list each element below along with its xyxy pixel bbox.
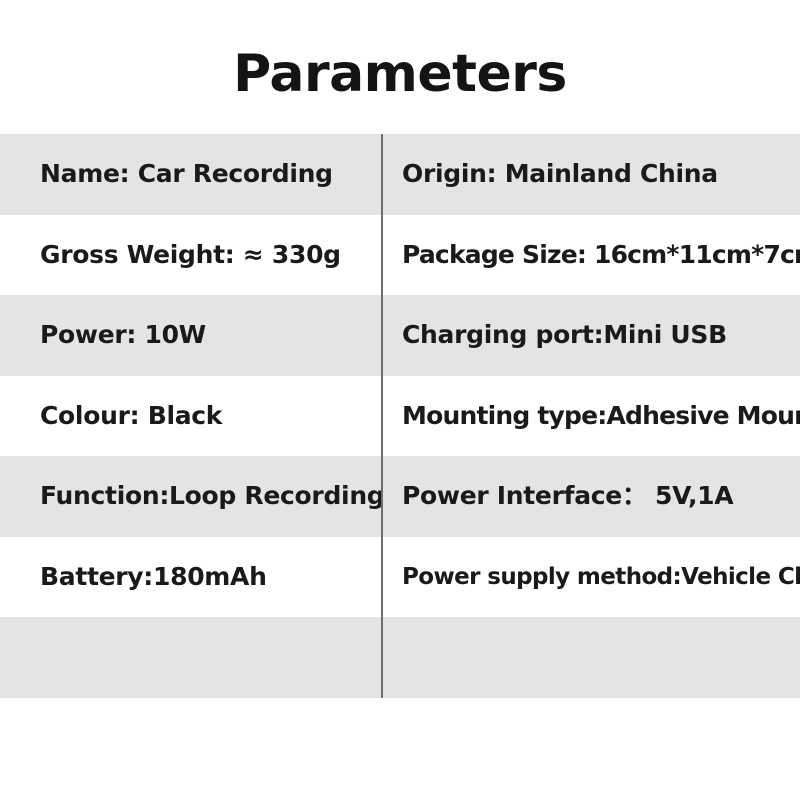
table-cell-right: Origin: Mainland China [381,134,800,215]
bottom-whitespace [0,698,800,800]
parameter-text: Origin: Mainland China [402,158,718,190]
parameter-text: Power Interface： 5V,1A [402,480,733,512]
table-cell-left: Name: Car Recording [0,134,381,215]
parameters-spec-sheet: Parameters Name: Car Recording Origin: M… [0,0,800,800]
parameters-table: Name: Car Recording Origin: Mainland Chi… [0,134,800,698]
table-cell-right: Power supply method:Vehicle Charger [381,537,800,618]
parameter-text: Name: Car Recording [40,158,333,190]
table-cell-right: Package Size: 16cm*11cm*7cm [381,215,800,296]
parameter-text: Function:Loop Recording [40,480,381,512]
table-row: Power: 10W Charging port:Mini USB [0,295,800,376]
table-cell-right [381,617,800,698]
table-cell-left: Function:Loop Recording [0,456,381,537]
parameter-text: Package Size: 16cm*11cm*7cm [402,239,800,271]
table-row: Colour: Black Mounting type:Adhesive Mou… [0,376,800,457]
parameter-text: Charging port:Mini USB [402,319,727,351]
table-cell-left [0,617,381,698]
page-title: Parameters [0,46,800,102]
table-cell-left: Colour: Black [0,376,381,457]
parameter-text: Colour: Black [40,400,222,432]
table-cell-right: Power Interface： 5V,1A [381,456,800,537]
parameter-text: Gross Weight: ≈ 330g [40,239,341,271]
table-cell-right: Mounting type:Adhesive Mount [381,376,800,457]
parameter-text: Power: 10W [40,319,206,351]
table-row: Name: Car Recording Origin: Mainland Chi… [0,134,800,215]
column-divider [381,134,383,698]
table-cell-left: Power: 10W [0,295,381,376]
table-cell-left: Battery:180mAh [0,537,381,618]
parameter-text: Mounting type:Adhesive Mount [402,400,800,432]
table-row: Battery:180mAh Power supply method:Vehic… [0,537,800,618]
table-cell-right: Charging port:Mini USB [381,295,800,376]
parameter-text: Battery:180mAh [40,561,267,593]
title-area: Parameters [0,0,800,134]
parameter-text: Power supply method:Vehicle Charger [402,561,800,593]
table-row: Function:Loop Recording Power Interface：… [0,456,800,537]
table-cell-left: Gross Weight: ≈ 330g [0,215,381,296]
table-row-empty [0,617,800,698]
table-row: Gross Weight: ≈ 330g Package Size: 16cm*… [0,215,800,296]
